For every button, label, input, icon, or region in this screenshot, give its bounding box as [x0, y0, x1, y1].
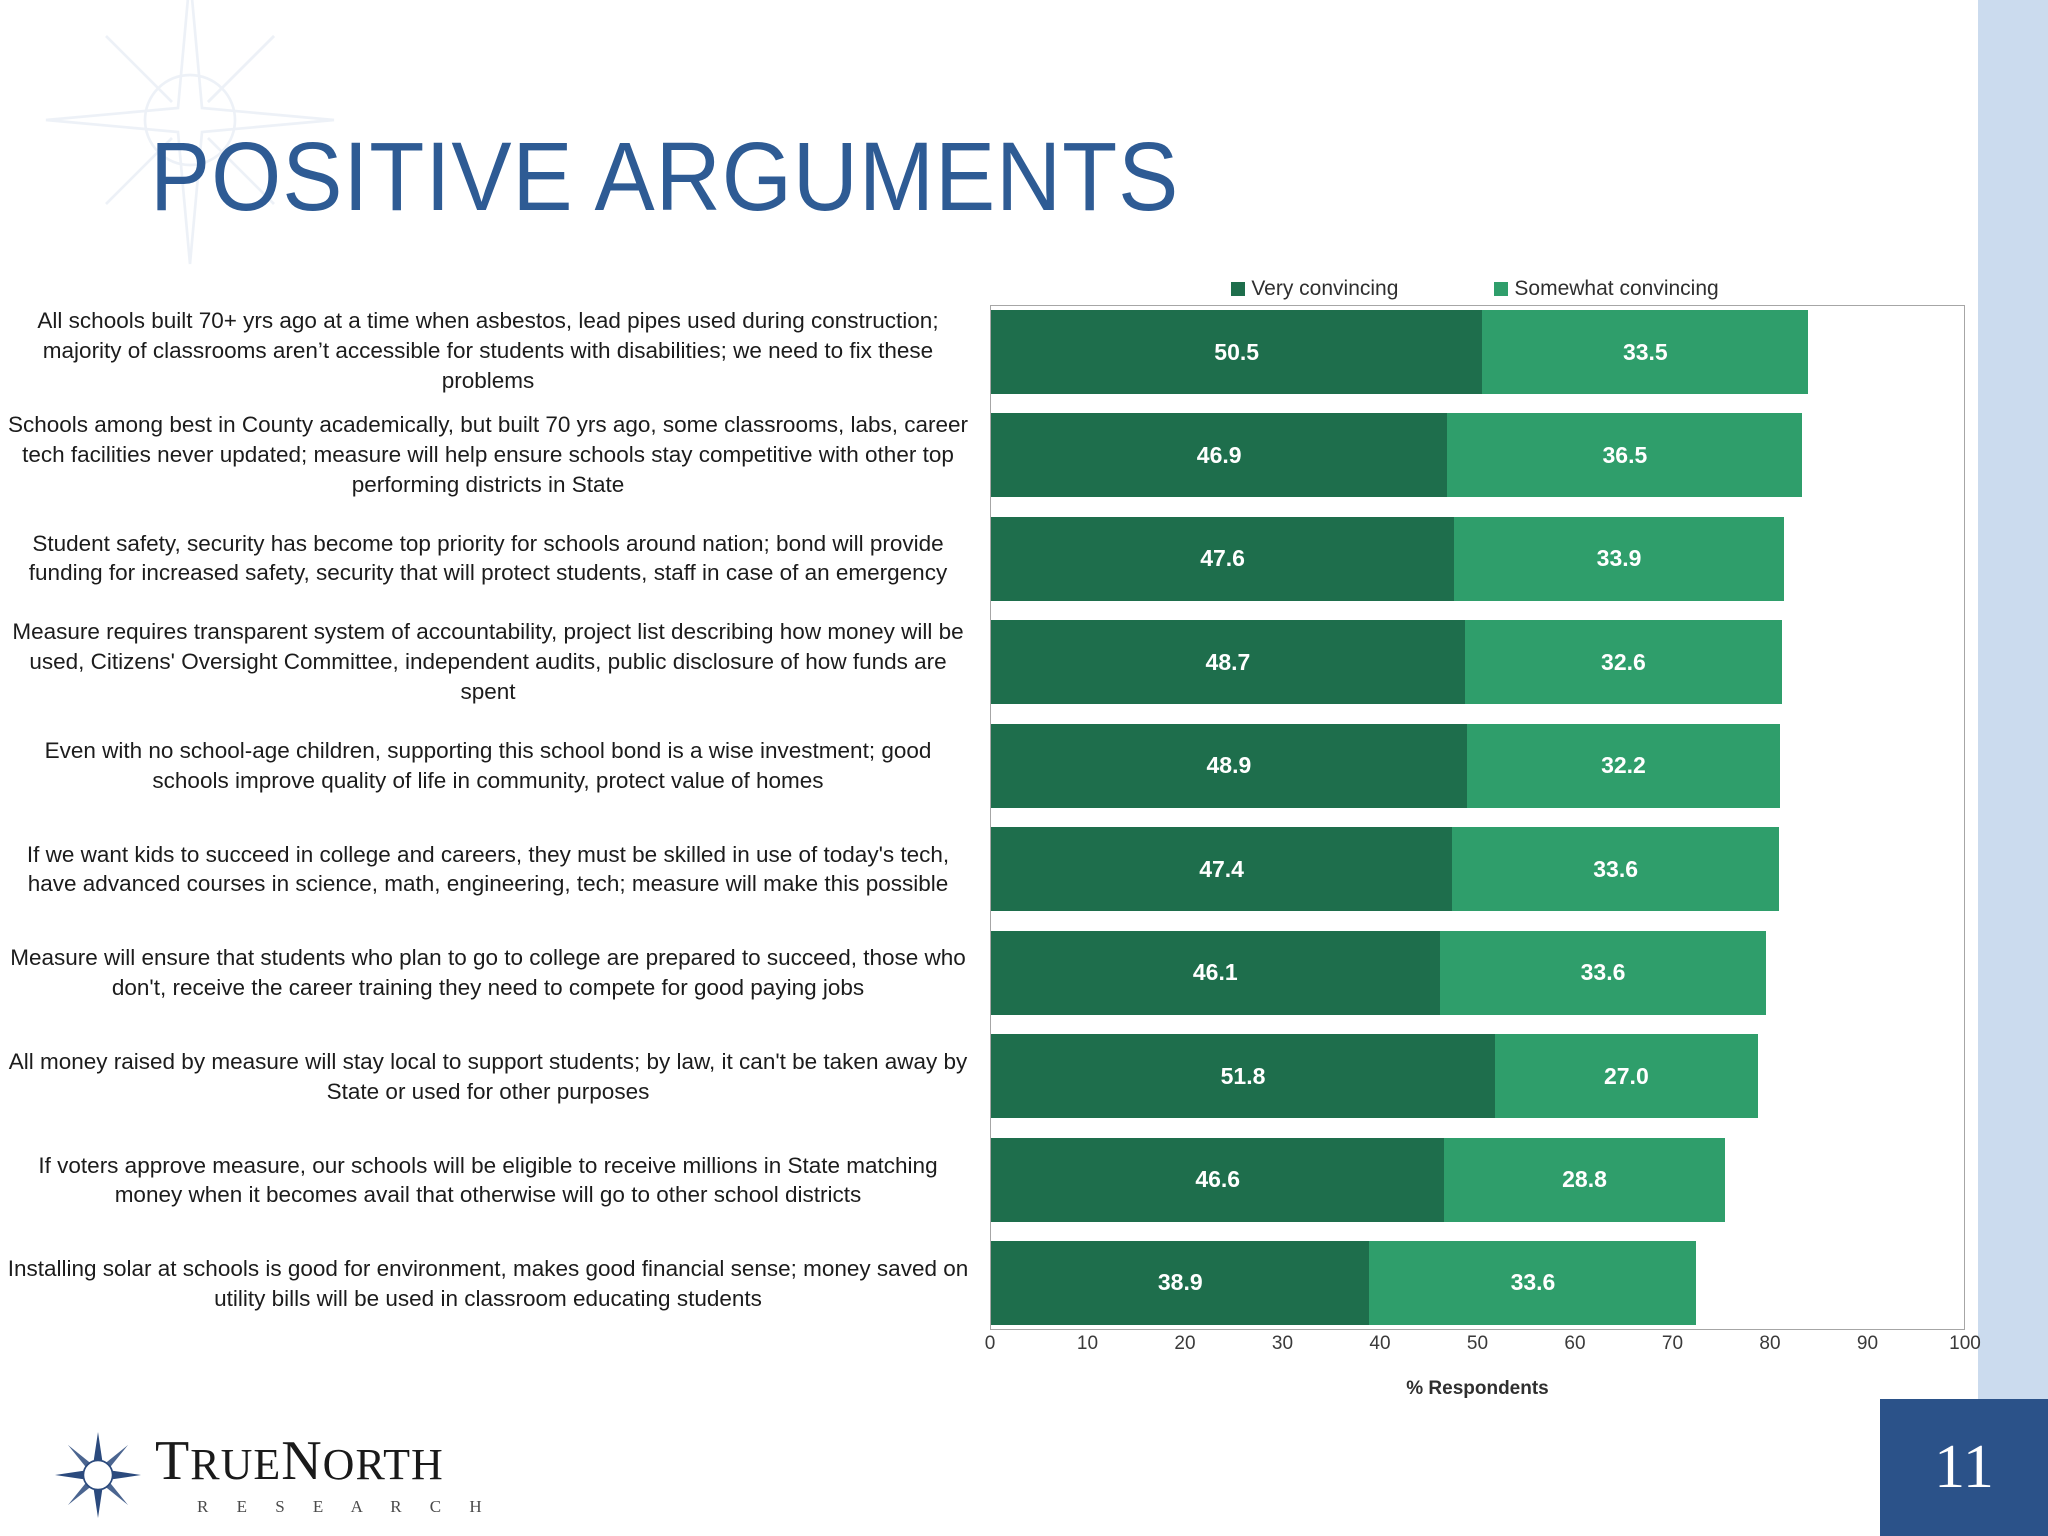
slide: POSITIVE ARGUMENTS Very convincing Somew…: [0, 0, 2048, 1536]
bar-segment-somewhat-convincing[interactable]: 32.2: [1467, 724, 1780, 808]
legend-item-very-convincing[interactable]: Very convincing: [1231, 277, 1398, 301]
legend-swatch-somewhat-convincing: [1494, 282, 1508, 296]
logo-name-rue: RUE: [190, 1440, 281, 1489]
legend-label-very-convincing: Very convincing: [1251, 277, 1398, 301]
bar-segment-very-convincing[interactable]: 47.6: [991, 517, 1454, 601]
page-number-badge: 11: [1880, 1399, 2048, 1536]
x-axis-tick: 20: [1174, 1333, 1195, 1355]
bar-row[interactable]: 47.633.9: [991, 517, 1964, 601]
bar-value-label: 28.8: [1562, 1166, 1607, 1193]
bar-row[interactable]: 50.533.5: [991, 310, 1964, 394]
bar-value-label: 48.7: [1206, 649, 1251, 676]
bar-value-label: 47.6: [1200, 545, 1245, 572]
bar-value-label: 38.9: [1158, 1269, 1203, 1296]
x-axis-tick: 90: [1857, 1333, 1878, 1355]
bar-row[interactable]: 46.133.6: [991, 931, 1964, 1015]
bar-segment-very-convincing[interactable]: 50.5: [991, 310, 1482, 394]
bar-segment-somewhat-convincing[interactable]: 33.6: [1452, 827, 1779, 911]
bar-row[interactable]: 48.932.2: [991, 724, 1964, 808]
chart-plot-area: 50.533.546.936.547.633.948.732.648.932.2…: [990, 305, 1965, 1330]
bar-value-label: 32.2: [1601, 752, 1646, 779]
x-axis-tick: 10: [1077, 1333, 1098, 1355]
category-label: Student safety, security has become top …: [0, 516, 980, 600]
bar-value-label: 46.1: [1193, 959, 1238, 986]
category-label: All money raised by measure will stay lo…: [0, 1035, 980, 1119]
x-axis-tick: 50: [1467, 1333, 1488, 1355]
category-label: If we want kids to succeed in college an…: [0, 827, 980, 911]
right-side-strip: [1978, 0, 2048, 1536]
x-axis-tick: 0: [985, 1333, 996, 1355]
bar-value-label: 47.4: [1199, 856, 1244, 883]
logo-name: TRUENORTH: [155, 1433, 494, 1489]
x-axis-tick: 60: [1564, 1333, 1585, 1355]
bar-row[interactable]: 46.936.5: [991, 413, 1964, 497]
truenorth-logo: TRUENORTH R E S E A R C H: [55, 1432, 494, 1518]
category-label: Measure requires transparent system of a…: [0, 620, 980, 704]
logo-subtitle: R E S E A R C H: [197, 1497, 494, 1517]
bar-value-label: 33.9: [1597, 545, 1642, 572]
x-axis-title: % Respondents: [990, 1378, 1965, 1400]
logo-text-block: TRUENORTH R E S E A R C H: [155, 1433, 494, 1517]
category-label: All schools built 70+ yrs ago at a time …: [0, 309, 980, 393]
bar-value-label: 46.9: [1197, 442, 1242, 469]
bar-row[interactable]: 51.827.0: [991, 1034, 1964, 1118]
bar-segment-very-convincing[interactable]: 46.1: [991, 931, 1440, 1015]
category-label-column: All schools built 70+ yrs ago at a time …: [0, 305, 980, 1330]
bar-value-label: 51.8: [1221, 1063, 1266, 1090]
legend-label-somewhat-convincing: Somewhat convincing: [1514, 277, 1718, 301]
x-axis-tick: 80: [1759, 1333, 1780, 1355]
x-axis-tick: 100: [1949, 1333, 1981, 1355]
category-label: Schools among best in County academicall…: [0, 413, 980, 497]
bar-value-label: 33.5: [1623, 339, 1668, 366]
category-label: Even with no school-age children, suppor…: [0, 724, 980, 808]
bar-segment-very-convincing[interactable]: 46.6: [991, 1138, 1444, 1222]
bar-segment-somewhat-convincing[interactable]: 32.6: [1465, 620, 1782, 704]
compass-star-icon: [55, 1432, 141, 1518]
legend-swatch-very-convincing: [1231, 282, 1245, 296]
bar-row[interactable]: 38.933.6: [991, 1241, 1964, 1325]
bar-segment-very-convincing[interactable]: 51.8: [991, 1034, 1495, 1118]
bar-value-label: 32.6: [1601, 649, 1646, 676]
bar-segment-somewhat-convincing[interactable]: 28.8: [1444, 1138, 1724, 1222]
bar-value-label: 33.6: [1593, 856, 1638, 883]
logo-name-orth: ORTH: [323, 1440, 444, 1489]
x-axis-tick: 40: [1369, 1333, 1390, 1355]
bar-value-label: 27.0: [1604, 1063, 1649, 1090]
category-label: Measure will ensure that students who pl…: [0, 931, 980, 1015]
legend-item-somewhat-convincing[interactable]: Somewhat convincing: [1494, 277, 1718, 301]
bar-segment-very-convincing[interactable]: 48.7: [991, 620, 1465, 704]
bar-value-label: 50.5: [1214, 339, 1259, 366]
logo-name-n: N: [281, 1430, 322, 1492]
bar-segment-very-convincing[interactable]: 47.4: [991, 827, 1452, 911]
bar-segment-very-convincing[interactable]: 46.9: [991, 413, 1447, 497]
bar-stack-container: 50.533.546.936.547.633.948.732.648.932.2…: [991, 306, 1964, 1329]
x-axis-ticks: 0102030405060708090100: [990, 1333, 1965, 1373]
bar-value-label: 46.6: [1195, 1166, 1240, 1193]
bar-row[interactable]: 47.433.6: [991, 827, 1964, 911]
bar-row[interactable]: 48.732.6: [991, 620, 1964, 704]
chart-legend: Very convincing Somewhat convincing: [980, 277, 1970, 301]
page-number: 11: [1934, 1432, 1994, 1503]
bar-value-label: 48.9: [1207, 752, 1252, 779]
bar-segment-very-convincing[interactable]: 38.9: [991, 1241, 1369, 1325]
bar-segment-somewhat-convincing[interactable]: 27.0: [1495, 1034, 1758, 1118]
bar-value-label: 33.6: [1581, 959, 1626, 986]
page-title: POSITIVE ARGUMENTS: [150, 128, 1179, 225]
logo-name-t: T: [155, 1430, 190, 1492]
x-axis-tick: 30: [1272, 1333, 1293, 1355]
x-axis-tick: 70: [1662, 1333, 1683, 1355]
bar-value-label: 36.5: [1603, 442, 1648, 469]
bar-value-label: 33.6: [1511, 1269, 1556, 1296]
category-label: Installing solar at schools is good for …: [0, 1242, 980, 1326]
bar-segment-somewhat-convincing[interactable]: 33.5: [1482, 310, 1808, 394]
bar-segment-somewhat-convincing[interactable]: 33.6: [1440, 931, 1767, 1015]
bar-segment-very-convincing[interactable]: 48.9: [991, 724, 1467, 808]
bar-row[interactable]: 46.628.8: [991, 1138, 1964, 1222]
bar-segment-somewhat-convincing[interactable]: 33.6: [1369, 1241, 1696, 1325]
category-label: If voters approve measure, our schools w…: [0, 1138, 980, 1222]
bar-segment-somewhat-convincing[interactable]: 33.9: [1454, 517, 1784, 601]
bar-segment-somewhat-convincing[interactable]: 36.5: [1447, 413, 1802, 497]
